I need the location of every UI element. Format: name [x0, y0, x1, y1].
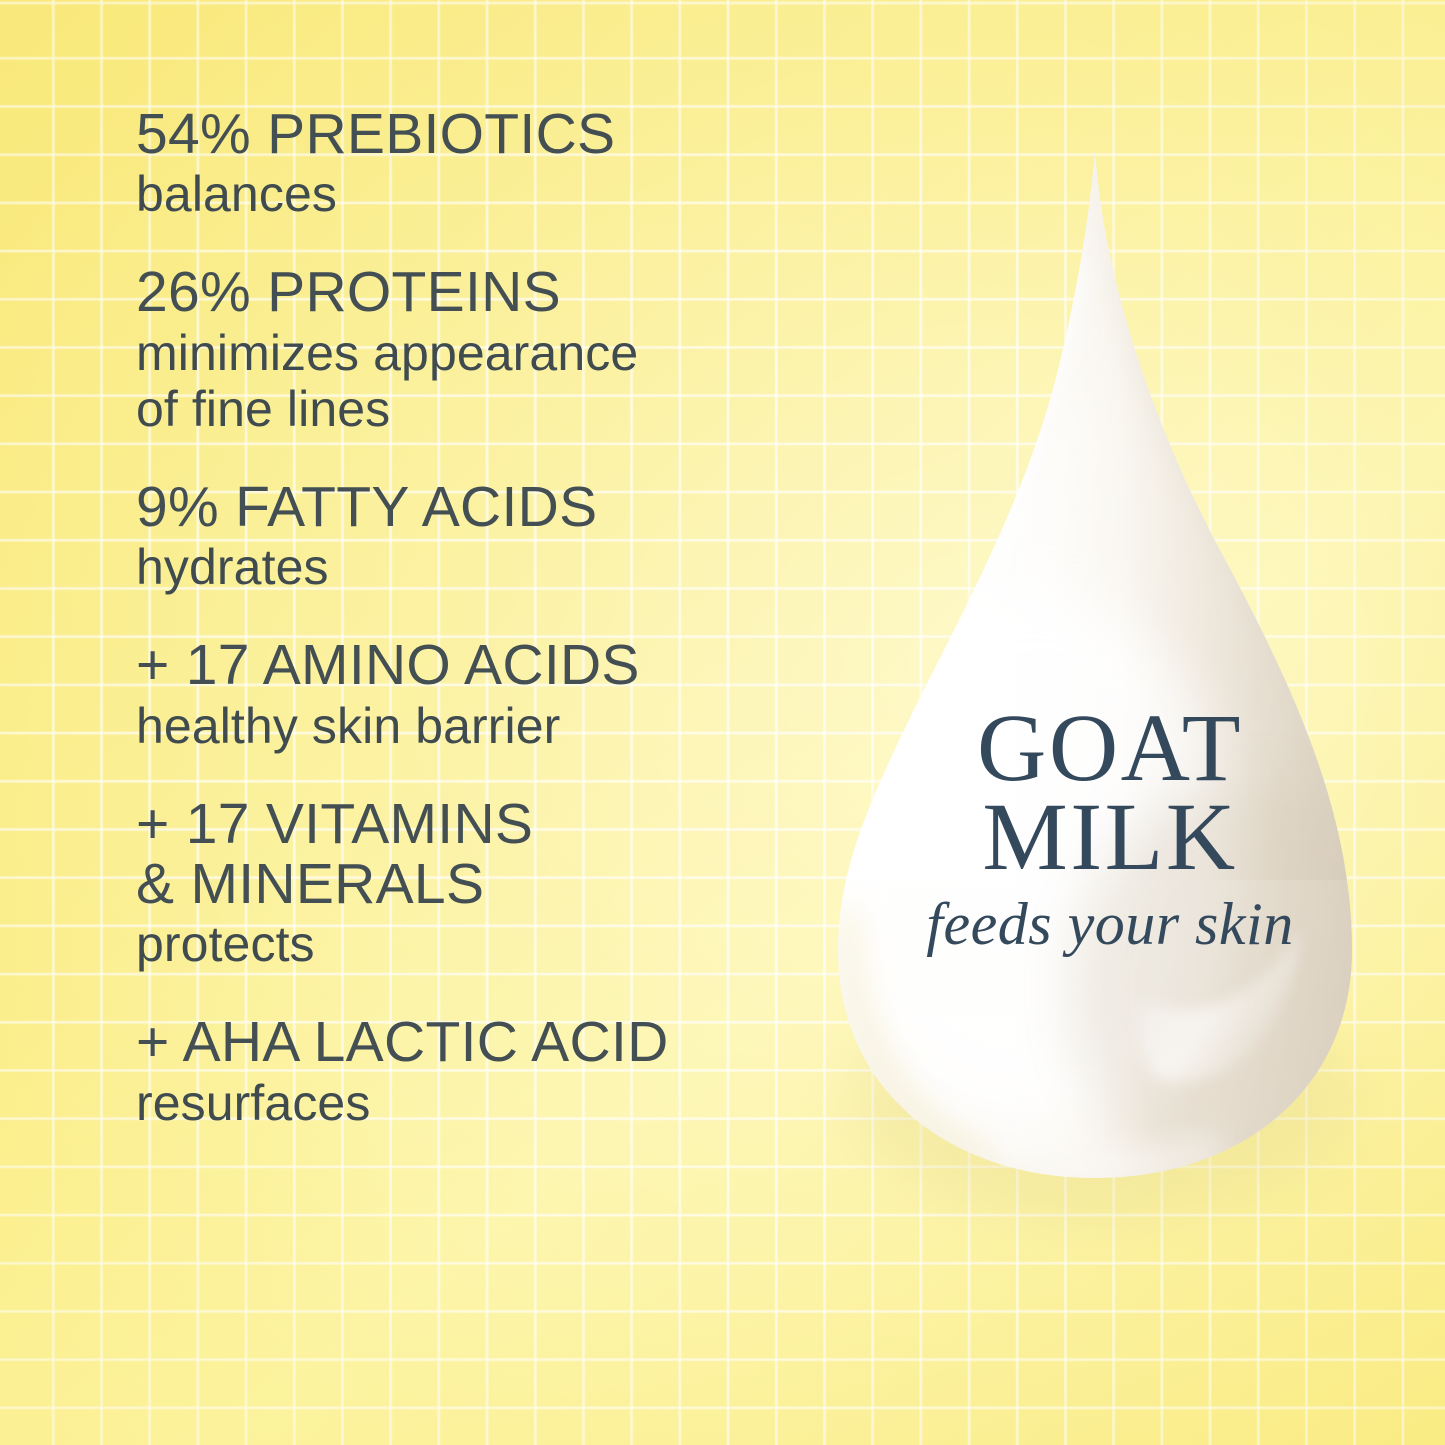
ingredient-item-amino-acids: + 17 AMINO ACIDS healthy skin barrier — [136, 635, 836, 753]
ingredient-list: 54% PREBIOTICS balances 26% PROTEINS min… — [136, 104, 836, 1131]
ingredient-headline: + 17 AMINO ACIDS — [136, 635, 836, 695]
ingredient-benefit: balances — [136, 166, 836, 222]
ingredient-item-fatty-acids: 9% FATTY ACIDS hydrates — [136, 477, 836, 595]
infographic-canvas: 54% PREBIOTICS balances 26% PROTEINS min… — [0, 0, 1445, 1445]
ingredient-item-vitamins-minerals: + 17 VITAMINS & MINERALS protects — [136, 794, 836, 973]
ingredient-benefit: protects — [136, 916, 836, 972]
milk-droplet-graphic: GOAT MILK feeds your skin — [790, 120, 1430, 1180]
ingredient-item-aha-lactic-acid: + AHA LACTIC ACID resurfaces — [136, 1012, 836, 1130]
ingredient-headline: + AHA LACTIC ACID — [136, 1012, 836, 1072]
ingredient-benefit: minimizes appearance of fine lines — [136, 325, 836, 437]
ingredient-headline: 9% FATTY ACIDS — [136, 477, 836, 537]
milk-droplet-icon — [790, 120, 1430, 1180]
ingredient-benefit: resurfaces — [136, 1075, 836, 1131]
ingredient-headline: + 17 VITAMINS & MINERALS — [136, 794, 836, 915]
ingredient-benefit: hydrates — [136, 539, 836, 595]
ingredient-headline: 26% PROTEINS — [136, 262, 836, 322]
ingredient-item-proteins: 26% PROTEINS minimizes appearance of fin… — [136, 262, 836, 436]
ingredient-item-prebiotics: 54% PREBIOTICS balances — [136, 104, 836, 222]
ingredient-benefit: healthy skin barrier — [136, 698, 836, 754]
ingredient-headline: 54% PREBIOTICS — [136, 104, 836, 164]
